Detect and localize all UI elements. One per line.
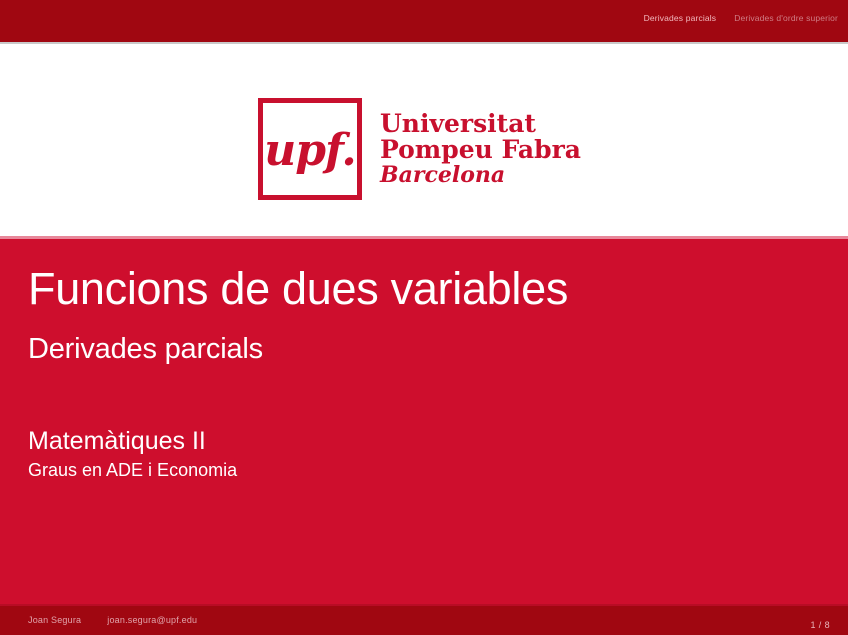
nav-item-derivades-ordre-superior[interactable]: Derivades d'ordre superior bbox=[734, 13, 838, 24]
logo-line-universitat: Universitat bbox=[380, 111, 581, 138]
footer-bar: Joan Segura joan.segura@upf.edu 1 / 8 bbox=[0, 606, 848, 635]
navigation-items: Derivades parcials Derivades d'ordre sup… bbox=[644, 13, 838, 24]
upf-wordmark: Universitat Pompeu Fabra Barcelona bbox=[380, 111, 581, 187]
page-number: 1 / 8 bbox=[810, 620, 830, 630]
page-subtitle: Derivades parcials bbox=[28, 334, 820, 366]
navigation-bar: Derivades parcials Derivades d'ordre sup… bbox=[0, 0, 848, 42]
page-title: Funcions de dues variables bbox=[28, 265, 820, 314]
title-band: Funcions de dues variables Derivades par… bbox=[0, 239, 848, 604]
footer-author: Joan Segura bbox=[28, 615, 81, 626]
degree-name: Graus en ADE i Economia bbox=[28, 460, 820, 481]
footer-author-block: Joan Segura joan.segura@upf.edu bbox=[28, 615, 197, 626]
upf-monogram-icon: upf. bbox=[258, 98, 362, 200]
upf-monogram-text: upf. bbox=[264, 129, 355, 173]
logo-line-barcelona: Barcelona bbox=[380, 164, 581, 187]
title-block: Funcions de dues variables Derivades par… bbox=[28, 265, 820, 481]
footer-email[interactable]: joan.segura@upf.edu bbox=[107, 615, 197, 626]
logo-line-pompeu-fabra: Pompeu Fabra bbox=[380, 137, 581, 164]
course-name: Matemàtiques II bbox=[28, 427, 820, 456]
logo-area: upf. Universitat Pompeu Fabra Barcelona bbox=[0, 44, 848, 240]
nav-item-derivades-parcials[interactable]: Derivades parcials bbox=[644, 13, 717, 24]
footer-page-block: 1 / 8 bbox=[810, 615, 830, 633]
presentation-slide: Derivades parcials Derivades d'ordre sup… bbox=[0, 0, 848, 635]
upf-logo: upf. Universitat Pompeu Fabra Barcelona bbox=[258, 98, 581, 200]
